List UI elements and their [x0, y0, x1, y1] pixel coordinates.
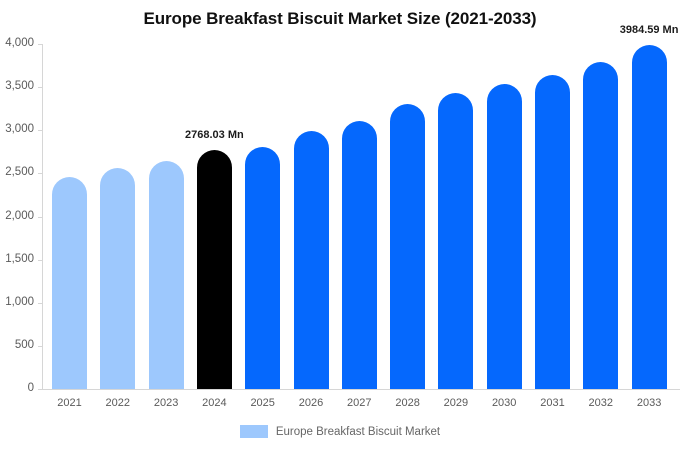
- y-axis-tick-label: 4,000: [0, 37, 34, 49]
- bar-2023[interactable]: [149, 161, 184, 389]
- y-axis-tick-label: 3,500: [0, 80, 34, 92]
- x-axis-line: [42, 389, 680, 390]
- legend-swatch-icon: [240, 425, 268, 438]
- bar-chart: Europe Breakfast Biscuit Market Size (20…: [0, 0, 680, 450]
- x-axis-tick-label: 2033: [619, 397, 679, 409]
- y-axis-tick-label: 0: [0, 382, 34, 394]
- y-axis-tick-label: 1,000: [0, 296, 34, 308]
- bar-value-label-2033: 3984.59 Mn: [589, 24, 680, 36]
- bar-2030[interactable]: [487, 84, 522, 389]
- y-axis-tick-label: 3,000: [0, 123, 34, 135]
- bar-2022[interactable]: [100, 168, 135, 389]
- chart-legend: Europe Breakfast Biscuit Market: [0, 425, 680, 438]
- bar-2026[interactable]: [294, 131, 329, 389]
- bar-2024[interactable]: [197, 150, 232, 389]
- bar-value-label-2024: 2768.03 Mn: [154, 129, 274, 141]
- y-axis-tick-label: 500: [0, 339, 34, 351]
- bar-2027[interactable]: [342, 121, 377, 389]
- bar-2029[interactable]: [438, 93, 473, 389]
- y-axis-tick-label: 2,500: [0, 166, 34, 178]
- legend-item-label: Europe Breakfast Biscuit Market: [276, 426, 440, 438]
- bar-2031[interactable]: [535, 75, 570, 389]
- bar-2028[interactable]: [390, 104, 425, 389]
- bar-2025[interactable]: [245, 147, 280, 389]
- bar-2021[interactable]: [52, 177, 87, 389]
- bar-2032[interactable]: [583, 62, 618, 389]
- y-axis-tick-label: 1,500: [0, 253, 34, 265]
- y-axis-tick-label: 2,000: [0, 210, 34, 222]
- plot-area: [42, 44, 680, 389]
- bar-2033[interactable]: [632, 45, 667, 389]
